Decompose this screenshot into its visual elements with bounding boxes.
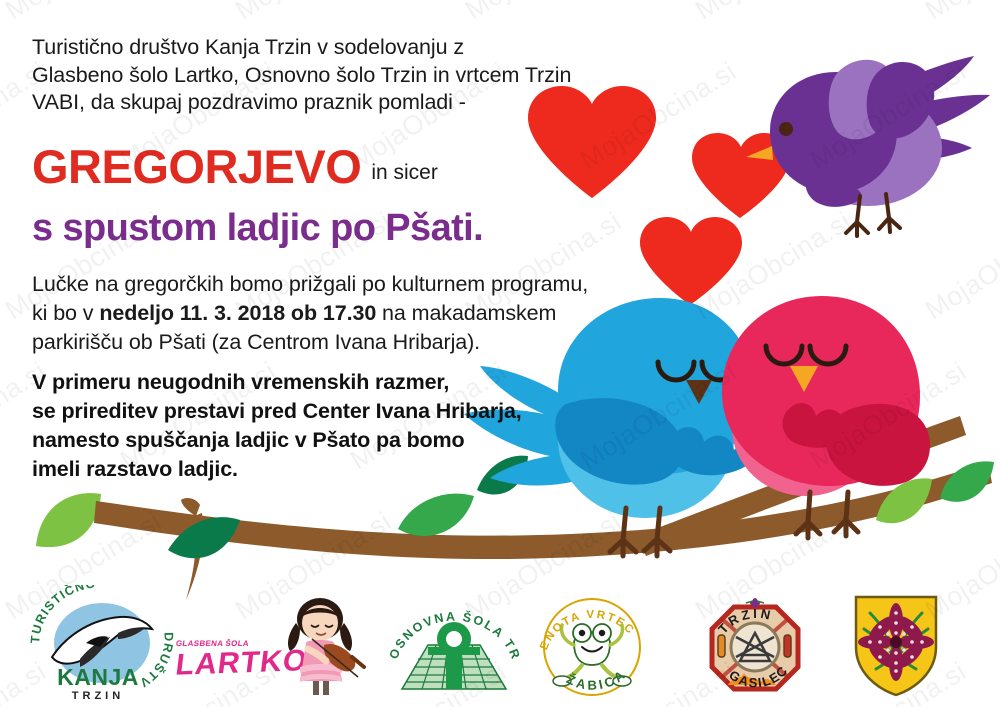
intro-line-3: VABI, da skupaj pozdravimo praznik pomla…	[32, 89, 652, 117]
details-line-3: parkirišču ob Pšati (za Centrom Ivana Hr…	[32, 330, 480, 354]
headline-secondary-text: s spustom ladjic po Pšati	[32, 207, 473, 249]
weather-line-2: se prireditev prestavi pred Center Ivana…	[32, 397, 652, 426]
event-datetime: nedeljo 11. 3. 2018 ob 17.30	[99, 301, 376, 325]
logo-kanja-main: KANJA	[57, 664, 139, 690]
logo-turisticno-drustvo-kanja-trzin: TURISTIČNO DRUŠTVO KANJA TRZIN	[22, 585, 182, 703]
poster-text-block: Turistično društvo Kanja Trzin v sodelov…	[32, 34, 652, 484]
poster-canvas: Turistično društvo Kanja Trzin v sodelov…	[0, 0, 1000, 707]
logo-enota-vrtec-zabica: ENOTA VRTEC ŽABICA	[538, 591, 646, 699]
weather-line-3: namesto spuščanja ladjic v Pšato pa bomo	[32, 426, 652, 455]
leaf-icon	[398, 494, 474, 536]
weather-line-1: V primeru neugodnih vremenskih razmer,	[32, 368, 652, 397]
bird-purple-eye	[779, 122, 793, 136]
page-title: GREGORJEVO	[32, 143, 361, 190]
headline-suffix: in sicer	[371, 161, 438, 190]
bird-purple	[746, 56, 990, 236]
headline-secondary-dot: .	[473, 207, 483, 249]
details-line-2-pre: ki bo v	[32, 301, 99, 325]
details-line-1: Lučke na gregorčkih bomo prižgali po kul…	[32, 272, 588, 296]
details-line-2-post: na makadamskem	[376, 301, 556, 325]
leaf-icon	[36, 493, 101, 547]
logo-girl-with-violin-icon	[272, 593, 368, 697]
logo-glasbena-sola-lartko: GLASBENA ŠOLA LARTKO	[176, 639, 276, 680]
logo-grb-obcine-trzin	[846, 591, 946, 699]
logo-osnovna-sola-trzin: OSNOVNA ŠOLA TRZIN	[388, 593, 520, 697]
intro-paragraph: Turistično društvo Kanja Trzin v sodelov…	[32, 34, 652, 117]
headline-row: GREGORJEVO in sicer	[32, 143, 652, 190]
headline-secondary: s spustom ladjic po Pšati.	[32, 209, 652, 247]
branch-short-diagonal	[181, 498, 200, 516]
heart-icon	[640, 217, 742, 305]
logo-kanja-sub: TRZIN	[72, 690, 124, 702]
event-details-paragraph: Lučke na gregorčkih bomo prižgali po kul…	[32, 270, 652, 357]
intro-line-2: Glasbeno šolo Lartko, Osnovno šolo Trzin…	[32, 62, 652, 90]
logo-gasilec-trzin: TRZIN GASILEC	[700, 589, 810, 701]
sponsor-logo-row: TURISTIČNO DRUŠTVO KANJA TRZIN GLASBENA …	[0, 582, 1000, 707]
intro-line-1: Turistično društvo Kanja Trzin v sodelov…	[32, 34, 652, 62]
weather-line-4: imeli razstavo ladjic.	[32, 455, 652, 484]
logo-arc-text-zabica: ŽABICA	[564, 666, 629, 693]
logo-lartko-main: LARTKO	[174, 646, 278, 681]
bad-weather-paragraph: V primeru neugodnih vremenskih razmer, s…	[32, 368, 652, 484]
